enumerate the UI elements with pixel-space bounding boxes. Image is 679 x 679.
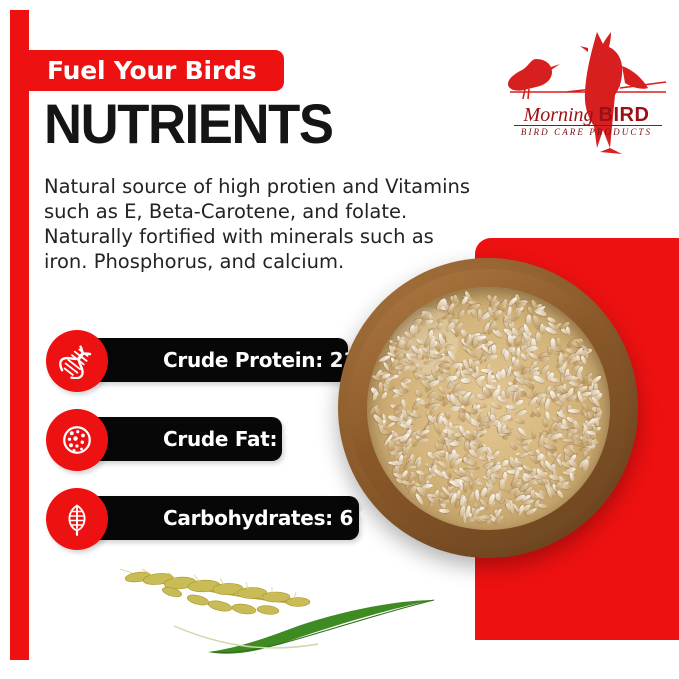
- eyebrow-label: Fuel Your Birds: [10, 56, 256, 85]
- eyebrow-banner: Fuel Your Birds: [10, 50, 284, 91]
- nutrient-icon-disc: [46, 330, 108, 392]
- nutrient-bar: Carbohydrates: 6 %: [91, 496, 359, 540]
- fat-globule-icon: [59, 422, 95, 458]
- wooden-bowl: [338, 258, 638, 558]
- nutrient-icon-disc: [46, 488, 108, 550]
- dna-helix-icon: [59, 343, 95, 379]
- nutrients-infographic: Fuel Your Birds NUTRIENTS Natural source…: [0, 0, 679, 679]
- nutrient-label: Carbohydrates: 6 %: [91, 506, 380, 530]
- seed-bowl-photo: [338, 258, 638, 588]
- nutrient-bar: Crude Protein: 21 %: [91, 338, 348, 382]
- logo-wordmark: Morning BIRD: [499, 104, 674, 127]
- brand-logo: Morning BIRD BIRD CARE PRODUCTS: [470, 26, 670, 156]
- canary-seed-fill: [367, 287, 610, 530]
- nutrient-bar: Crude Fat: 7 %: [91, 417, 282, 461]
- nutrient-icon-disc: [46, 409, 108, 471]
- page-title: NUTRIENTS: [44, 96, 333, 152]
- logo-word-bold: BIRD: [599, 104, 650, 126]
- nutrient-label: Crude Fat: 7 %: [91, 427, 324, 451]
- logo-tagline: BIRD CARE PRODUCTS: [499, 127, 674, 137]
- left-red-accent-bar: [10, 10, 29, 660]
- logo-word-script: Morning: [524, 104, 594, 126]
- artichoke-grain-icon: [59, 501, 95, 537]
